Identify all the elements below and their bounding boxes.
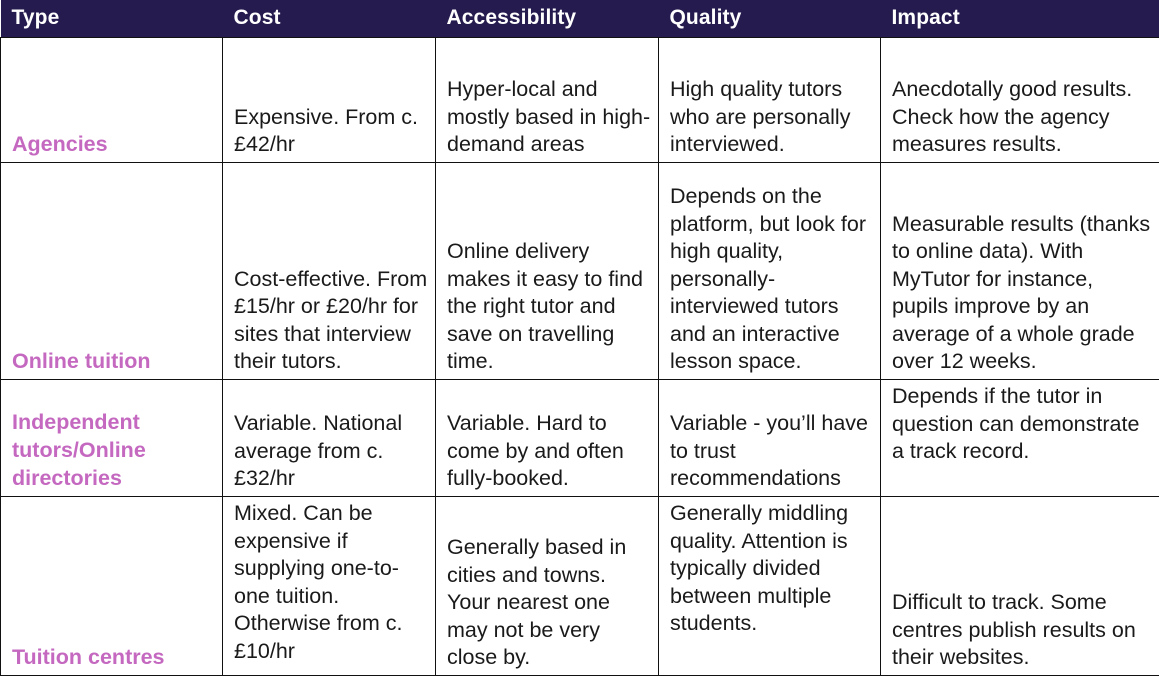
cell-agencies-accessibility: Hyper-local and mostly based in high-dem… [436, 38, 659, 163]
cell-online-tuition-impact: Measurable results (thanks to online dat… [881, 163, 1159, 380]
cell-independent-tutors-cost: Variable. National average from c. £32/h… [223, 380, 436, 497]
column-header-quality: Quality [659, 0, 881, 38]
table-row: Agencies Expensive. From c. £42/hr Hyper… [1, 38, 1159, 163]
table-header-row: Type Cost Accessibility Quality Impact [1, 0, 1159, 38]
row-label-online-tuition: Online tuition [1, 163, 223, 380]
table-row: Online tuition Cost-effective. From £15/… [1, 163, 1159, 380]
row-label-independent-tutors: Independent tutors/Online directories [1, 380, 223, 497]
column-header-cost: Cost [223, 0, 436, 38]
column-header-accessibility: Accessibility [436, 0, 659, 38]
row-label-tuition-centres: Tuition centres [1, 497, 223, 676]
cell-tuition-centres-quality: Generally middling quality. Attention is… [659, 497, 881, 676]
cell-online-tuition-accessibility: Online delivery makes it easy to find th… [436, 163, 659, 380]
cell-independent-tutors-accessibility: Variable. Hard to come by and often full… [436, 380, 659, 497]
cell-agencies-impact: Anecdotally good results. Check how the … [881, 38, 1159, 163]
cell-agencies-quality: High quality tutors who are personally i… [659, 38, 881, 163]
tutoring-options-comparison-table: Type Cost Accessibility Quality Impact A… [0, 0, 1159, 676]
table-row: Independent tutors/Online directories Va… [1, 380, 1159, 497]
column-header-impact: Impact [881, 0, 1159, 38]
cell-tuition-centres-accessibility: Generally based in cities and towns. You… [436, 497, 659, 676]
cell-online-tuition-cost: Cost-effective. From £15/hr or £20/hr fo… [223, 163, 436, 380]
cell-tuition-centres-impact: Difficult to track. Some centres publish… [881, 497, 1159, 676]
table-body: Agencies Expensive. From c. £42/hr Hyper… [1, 38, 1159, 676]
cell-tuition-centres-cost: Mixed. Can be expensive if supplying one… [223, 497, 436, 676]
cell-independent-tutors-quality: Variable - you’ll have to trust recommen… [659, 380, 881, 497]
column-header-type: Type [1, 0, 223, 38]
cell-agencies-cost: Expensive. From c. £42/hr [223, 38, 436, 163]
cell-independent-tutors-impact: Depends if the tutor in question can dem… [881, 380, 1159, 497]
row-label-agencies: Agencies [1, 38, 223, 163]
table-row: Tuition centres Mixed. Can be expensive … [1, 497, 1159, 676]
table-header: Type Cost Accessibility Quality Impact [1, 0, 1159, 38]
cell-online-tuition-quality: Depends on the platform, but look for hi… [659, 163, 881, 380]
